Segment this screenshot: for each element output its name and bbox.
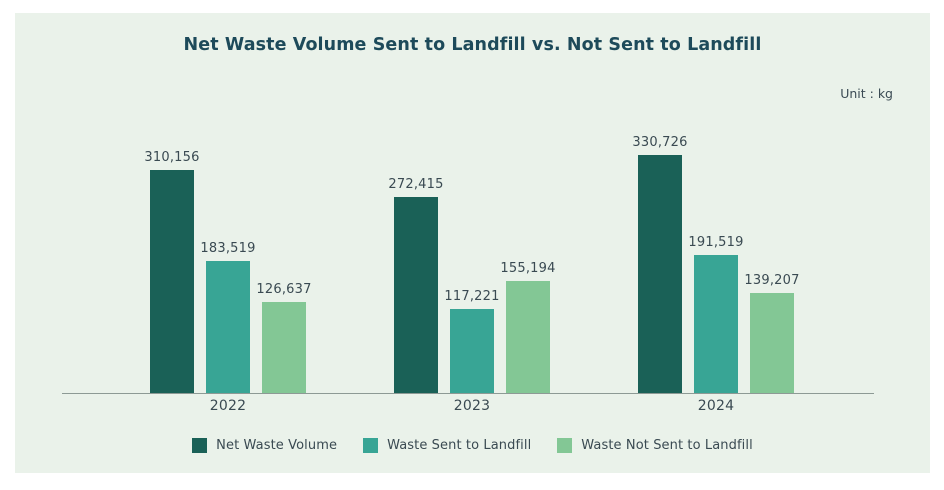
- bar-column[interactable]: 155,194: [506, 93, 550, 393]
- chart-panel: Net Waste Volume Sent to Landfill vs. No…: [15, 13, 930, 473]
- bar[interactable]: [394, 197, 438, 393]
- bar[interactable]: [150, 170, 194, 393]
- bar-column[interactable]: 191,519: [694, 93, 738, 393]
- bar[interactable]: [262, 302, 306, 393]
- x-axis-line: [62, 393, 874, 394]
- bar[interactable]: [206, 261, 250, 393]
- bar-group: 310,156183,519126,637: [150, 93, 306, 393]
- bar-value-label: 117,221: [444, 289, 499, 304]
- bar-column[interactable]: 310,156: [150, 93, 194, 393]
- plot-area: 310,156183,519126,6372022272,415117,2211…: [15, 13, 930, 473]
- bar-group: 330,726191,519139,207: [638, 93, 794, 393]
- legend-label: Waste Sent to Landfill: [387, 438, 531, 453]
- bar[interactable]: [506, 281, 550, 393]
- bar[interactable]: [450, 309, 494, 393]
- bar[interactable]: [750, 293, 794, 393]
- bar-column[interactable]: 272,415: [394, 93, 438, 393]
- bar-value-label: 126,637: [256, 282, 311, 297]
- bar-value-label: 155,194: [500, 261, 555, 276]
- bar-group: 272,415117,221155,194: [394, 93, 550, 393]
- bar[interactable]: [638, 155, 682, 393]
- bar-value-label: 272,415: [388, 177, 443, 192]
- bar-value-label: 191,519: [688, 235, 743, 250]
- bar-column[interactable]: 330,726: [638, 93, 682, 393]
- bar-value-label: 330,726: [632, 135, 687, 150]
- bar-column[interactable]: 183,519: [206, 93, 250, 393]
- x-axis-label-2022: 2022: [150, 398, 306, 414]
- legend-swatch-icon: [192, 438, 207, 453]
- bar-column[interactable]: 139,207: [750, 93, 794, 393]
- bar-column[interactable]: 126,637: [262, 93, 306, 393]
- legend-item[interactable]: Waste Not Sent to Landfill: [557, 438, 753, 453]
- bar[interactable]: [694, 255, 738, 393]
- x-axis-label-2023: 2023: [394, 398, 550, 414]
- legend-swatch-icon: [363, 438, 378, 453]
- x-axis-label-2024: 2024: [638, 398, 794, 414]
- legend-swatch-icon: [557, 438, 572, 453]
- legend-item[interactable]: Waste Sent to Landfill: [363, 438, 531, 453]
- legend-label: Net Waste Volume: [216, 438, 337, 453]
- legend-label: Waste Not Sent to Landfill: [581, 438, 753, 453]
- bar-value-label: 183,519: [200, 241, 255, 256]
- bar-column[interactable]: 117,221: [450, 93, 494, 393]
- chart-legend: Net Waste VolumeWaste Sent to LandfillWa…: [15, 438, 930, 453]
- legend-item[interactable]: Net Waste Volume: [192, 438, 337, 453]
- bar-value-label: 139,207: [744, 273, 799, 288]
- bar-value-label: 310,156: [144, 150, 199, 165]
